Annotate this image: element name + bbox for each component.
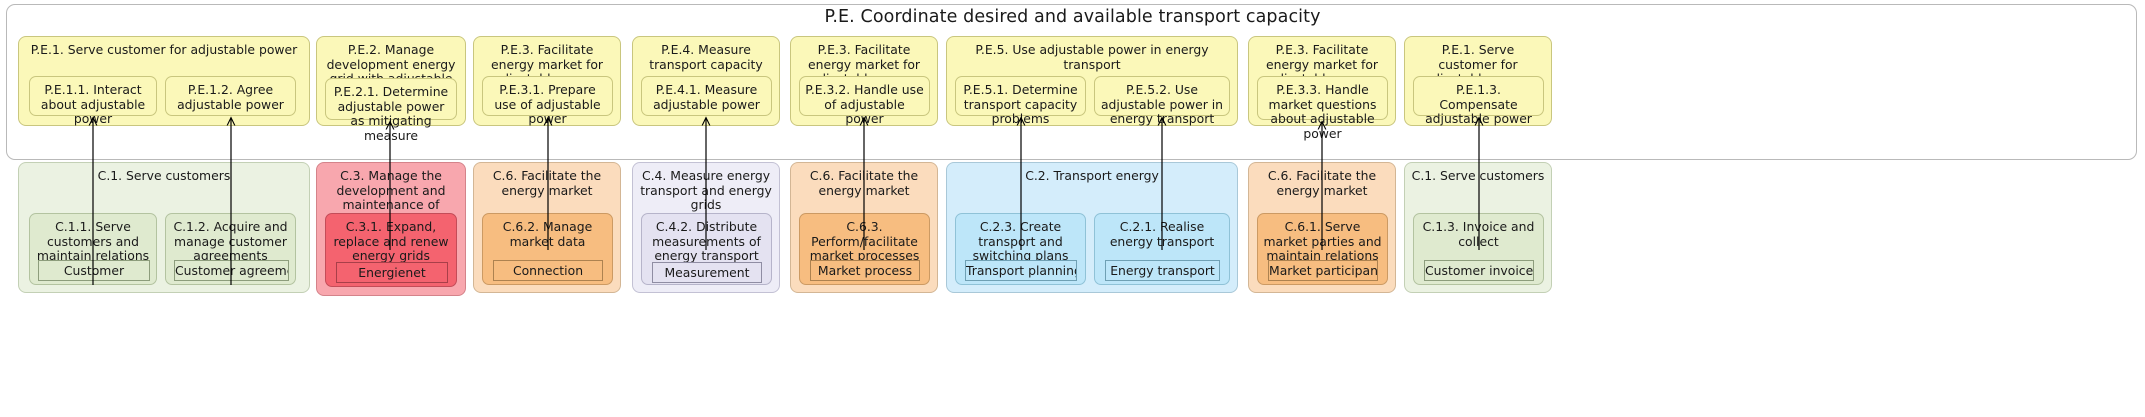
subprocess-title: C.1.3. Invoice and collect bbox=[1419, 220, 1538, 249]
group-title: P.E.1. Serve customer for adjustable pow… bbox=[25, 43, 303, 58]
subprocess-pe552[interactable]: P.E.5.2. Use adjustable power in energy … bbox=[1094, 76, 1230, 116]
subprocess-pe332[interactable]: P.E.3.2. Handle use of adjustable power bbox=[799, 76, 930, 116]
diagram-canvas: P.E. Coordinate desired and available tr… bbox=[0, 0, 2145, 417]
subprocess-title: P.E.3.3. Handle market questions about a… bbox=[1263, 83, 1382, 141]
subprocess-pe551[interactable]: P.E.5.1. Determine transport capacity pr… bbox=[955, 76, 1086, 116]
subprocess-title: P.E.1.2. Agree adjustable power bbox=[171, 83, 290, 112]
group-title: C.2. Transport energy bbox=[953, 169, 1231, 184]
subprocess-title: P.E.1.1. Interact about adjustable power bbox=[35, 83, 151, 127]
subprocess-title: P.E.4.1. Measure adjustable power bbox=[647, 83, 766, 112]
subprocess-title: P.E.3.1. Prepare use of adjustable power bbox=[488, 83, 607, 127]
subprocess-title: P.E.2.1. Determine adjustable power as m… bbox=[331, 85, 451, 143]
subprocess-c663[interactable]: C.6.3. Perform/facilitate market process… bbox=[799, 213, 930, 285]
object-label[interactable]: Customer agreement bbox=[174, 260, 289, 281]
object-label[interactable]: Energy transport bbox=[1105, 260, 1220, 281]
subprocess-title: C.1.2. Acquire and manage customer agree… bbox=[171, 220, 290, 264]
subprocess-title: C.2.3. Create transport and switching pl… bbox=[961, 220, 1080, 264]
group-title: C.1. Serve customers bbox=[1411, 169, 1545, 184]
subprocess-title: P.E.5.2. Use adjustable power in energy … bbox=[1100, 83, 1224, 127]
object-label[interactable]: Transport planning bbox=[965, 260, 1077, 281]
subprocess-title: P.E.5.1. Determine transport capacity pr… bbox=[961, 83, 1080, 127]
subprocess-title: C.6.3. Perform/facilitate market process… bbox=[805, 220, 924, 264]
subprocess-c112[interactable]: C.1.2. Acquire and manage customer agree… bbox=[165, 213, 296, 285]
group-title: P.E.5. Use adjustable power in energy tr… bbox=[953, 43, 1231, 72]
subprocess-title: P.E.3.2. Handle use of adjustable power bbox=[805, 83, 924, 127]
subprocess-title: C.2.1. Realise energy transport bbox=[1100, 220, 1224, 249]
object-label[interactable]: Market participant bbox=[1268, 260, 1378, 281]
object-label[interactable]: Measurement bbox=[652, 262, 762, 283]
subprocess-pe441[interactable]: P.E.4.1. Measure adjustable power bbox=[641, 76, 772, 116]
group-title: P.E.4. Measure transport capacity bbox=[639, 43, 773, 72]
subprocess-title: C.3.1. Expand, replace and renew energy … bbox=[331, 220, 451, 264]
subprocess-title: P.E.1.3. Compensate adjustable power bbox=[1419, 83, 1538, 127]
subprocess-c662[interactable]: C.6.2. Manage market data Connection bbox=[482, 213, 613, 285]
group-title: C.6. Facilitate the energy market bbox=[1255, 169, 1389, 198]
subprocess-c111[interactable]: C.1.1. Serve customers and maintain rela… bbox=[29, 213, 157, 285]
subprocess-pe221[interactable]: P.E.2.1. Determine adjustable power as m… bbox=[325, 78, 457, 120]
group-title: C.1. Serve customers bbox=[25, 169, 303, 184]
page-title: P.E. Coordinate desired and available tr… bbox=[0, 7, 2145, 27]
object-label[interactable]: Connection bbox=[493, 260, 603, 281]
group-title: C.6. Facilitate the energy market bbox=[480, 169, 614, 198]
subprocess-c223[interactable]: C.2.3. Create transport and switching pl… bbox=[955, 213, 1086, 285]
object-label[interactable]: Market process bbox=[810, 260, 920, 281]
object-label[interactable]: Energienet bbox=[336, 262, 448, 283]
subprocess-c442[interactable]: C.4.2. Distribute measurements of energy… bbox=[641, 213, 772, 285]
group-title: C.4. Measure energy transport and energy… bbox=[639, 169, 773, 213]
subprocess-title: C.6.2. Manage market data bbox=[488, 220, 607, 249]
object-label[interactable]: Customer invoice bbox=[1424, 260, 1534, 281]
subprocess-title: C.1.1. Serve customers and maintain rela… bbox=[35, 220, 151, 264]
subprocess-c113[interactable]: C.1.3. Invoice and collect Customer invo… bbox=[1413, 213, 1544, 285]
object-label[interactable]: Customer bbox=[38, 260, 150, 281]
subprocess-c331[interactable]: C.3.1. Expand, replace and renew energy … bbox=[325, 213, 457, 287]
subprocess-pe331[interactable]: P.E.3.1. Prepare use of adjustable power bbox=[482, 76, 613, 116]
subprocess-pe333[interactable]: P.E.3.3. Handle market questions about a… bbox=[1257, 76, 1388, 120]
subprocess-c661[interactable]: C.6.1. Serve market parties and maintain… bbox=[1257, 213, 1388, 285]
subprocess-pe111[interactable]: P.E.1.1. Interact about adjustable power bbox=[29, 76, 157, 116]
subprocess-pe112[interactable]: P.E.1.2. Agree adjustable power bbox=[165, 76, 296, 116]
subprocess-pe113[interactable]: P.E.1.3. Compensate adjustable power bbox=[1413, 76, 1544, 116]
subprocess-title: C.6.1. Serve market parties and maintain… bbox=[1263, 220, 1382, 264]
subprocess-c221[interactable]: C.2.1. Realise energy transport Energy t… bbox=[1094, 213, 1230, 285]
group-title: C.6. Facilitate the energy market bbox=[797, 169, 931, 198]
